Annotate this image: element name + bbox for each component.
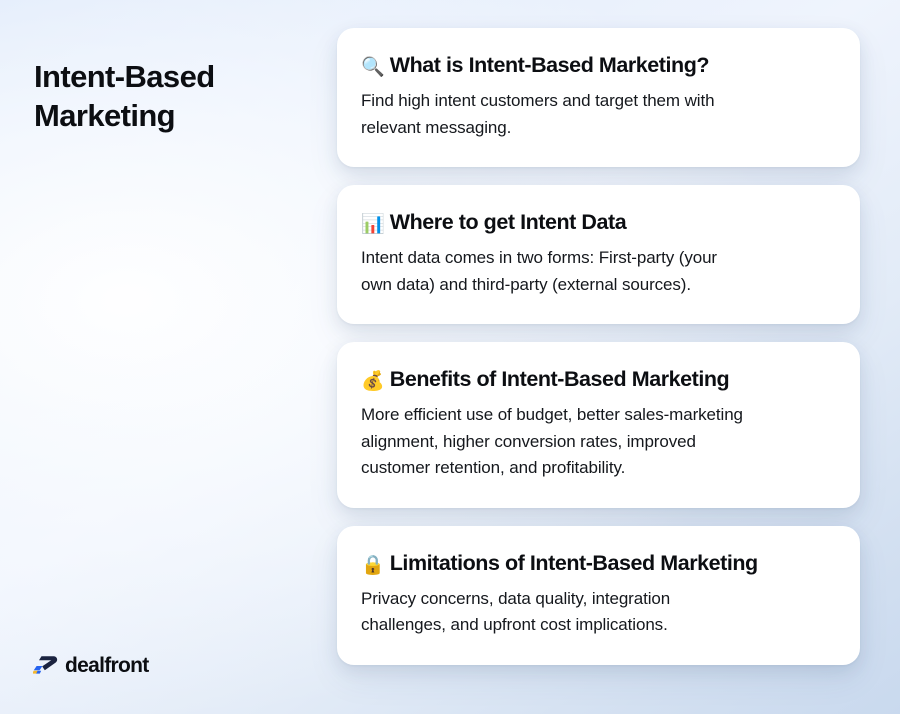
card-heading: 💰 Benefits of Intent-Based Marketing	[361, 365, 834, 393]
bar-chart-icon: 📊	[361, 213, 384, 235]
card-heading: 🔍 What is Intent-Based Marketing?	[361, 51, 834, 79]
magnifying-glass-icon: 🔍	[361, 56, 384, 78]
dealfront-arrow-icon	[33, 654, 59, 676]
card-body: Intent data comes in two forms: First-pa…	[361, 245, 834, 298]
lock-icon: 🔒	[361, 554, 384, 576]
card-body: Find high intent customers and target th…	[361, 88, 834, 141]
card-heading: 📊 Where to get Intent Data	[361, 208, 834, 236]
infographic-canvas: Intent-Based Marketing dealfront 🔍 What …	[0, 0, 900, 714]
brand-logo: dealfront	[33, 654, 149, 676]
card-heading-text: Benefits of Intent-Based Marketing	[390, 367, 730, 391]
card-heading-text: What is Intent-Based Marketing?	[390, 53, 709, 77]
card-what-is-intent-based-marketing[interactable]: 🔍 What is Intent-Based Marketing? Find h…	[337, 28, 860, 167]
card-body: More efficient use of budget, better sal…	[361, 402, 834, 482]
card-heading-text: Where to get Intent Data	[390, 210, 626, 234]
card-where-to-get-intent-data[interactable]: 📊 Where to get Intent Data Intent data c…	[337, 185, 860, 324]
left-column: Intent-Based Marketing dealfront	[0, 0, 337, 714]
card-benefits-of-intent-based-marketing[interactable]: 💰 Benefits of Intent-Based Marketing Mor…	[337, 342, 860, 508]
page-title: Intent-Based Marketing	[34, 57, 314, 135]
card-body: Privacy concerns, data quality, integrat…	[361, 586, 834, 639]
card-heading: 🔒 Limitations of Intent-Based Marketing	[361, 549, 834, 577]
money-bag-icon: 💰	[361, 370, 384, 392]
brand-name: dealfront	[65, 655, 149, 676]
card-limitations-of-intent-based-marketing[interactable]: 🔒 Limitations of Intent-Based Marketing …	[337, 526, 860, 665]
cards-column: 🔍 What is Intent-Based Marketing? Find h…	[337, 28, 860, 665]
card-heading-text: Limitations of Intent-Based Marketing	[390, 551, 758, 575]
